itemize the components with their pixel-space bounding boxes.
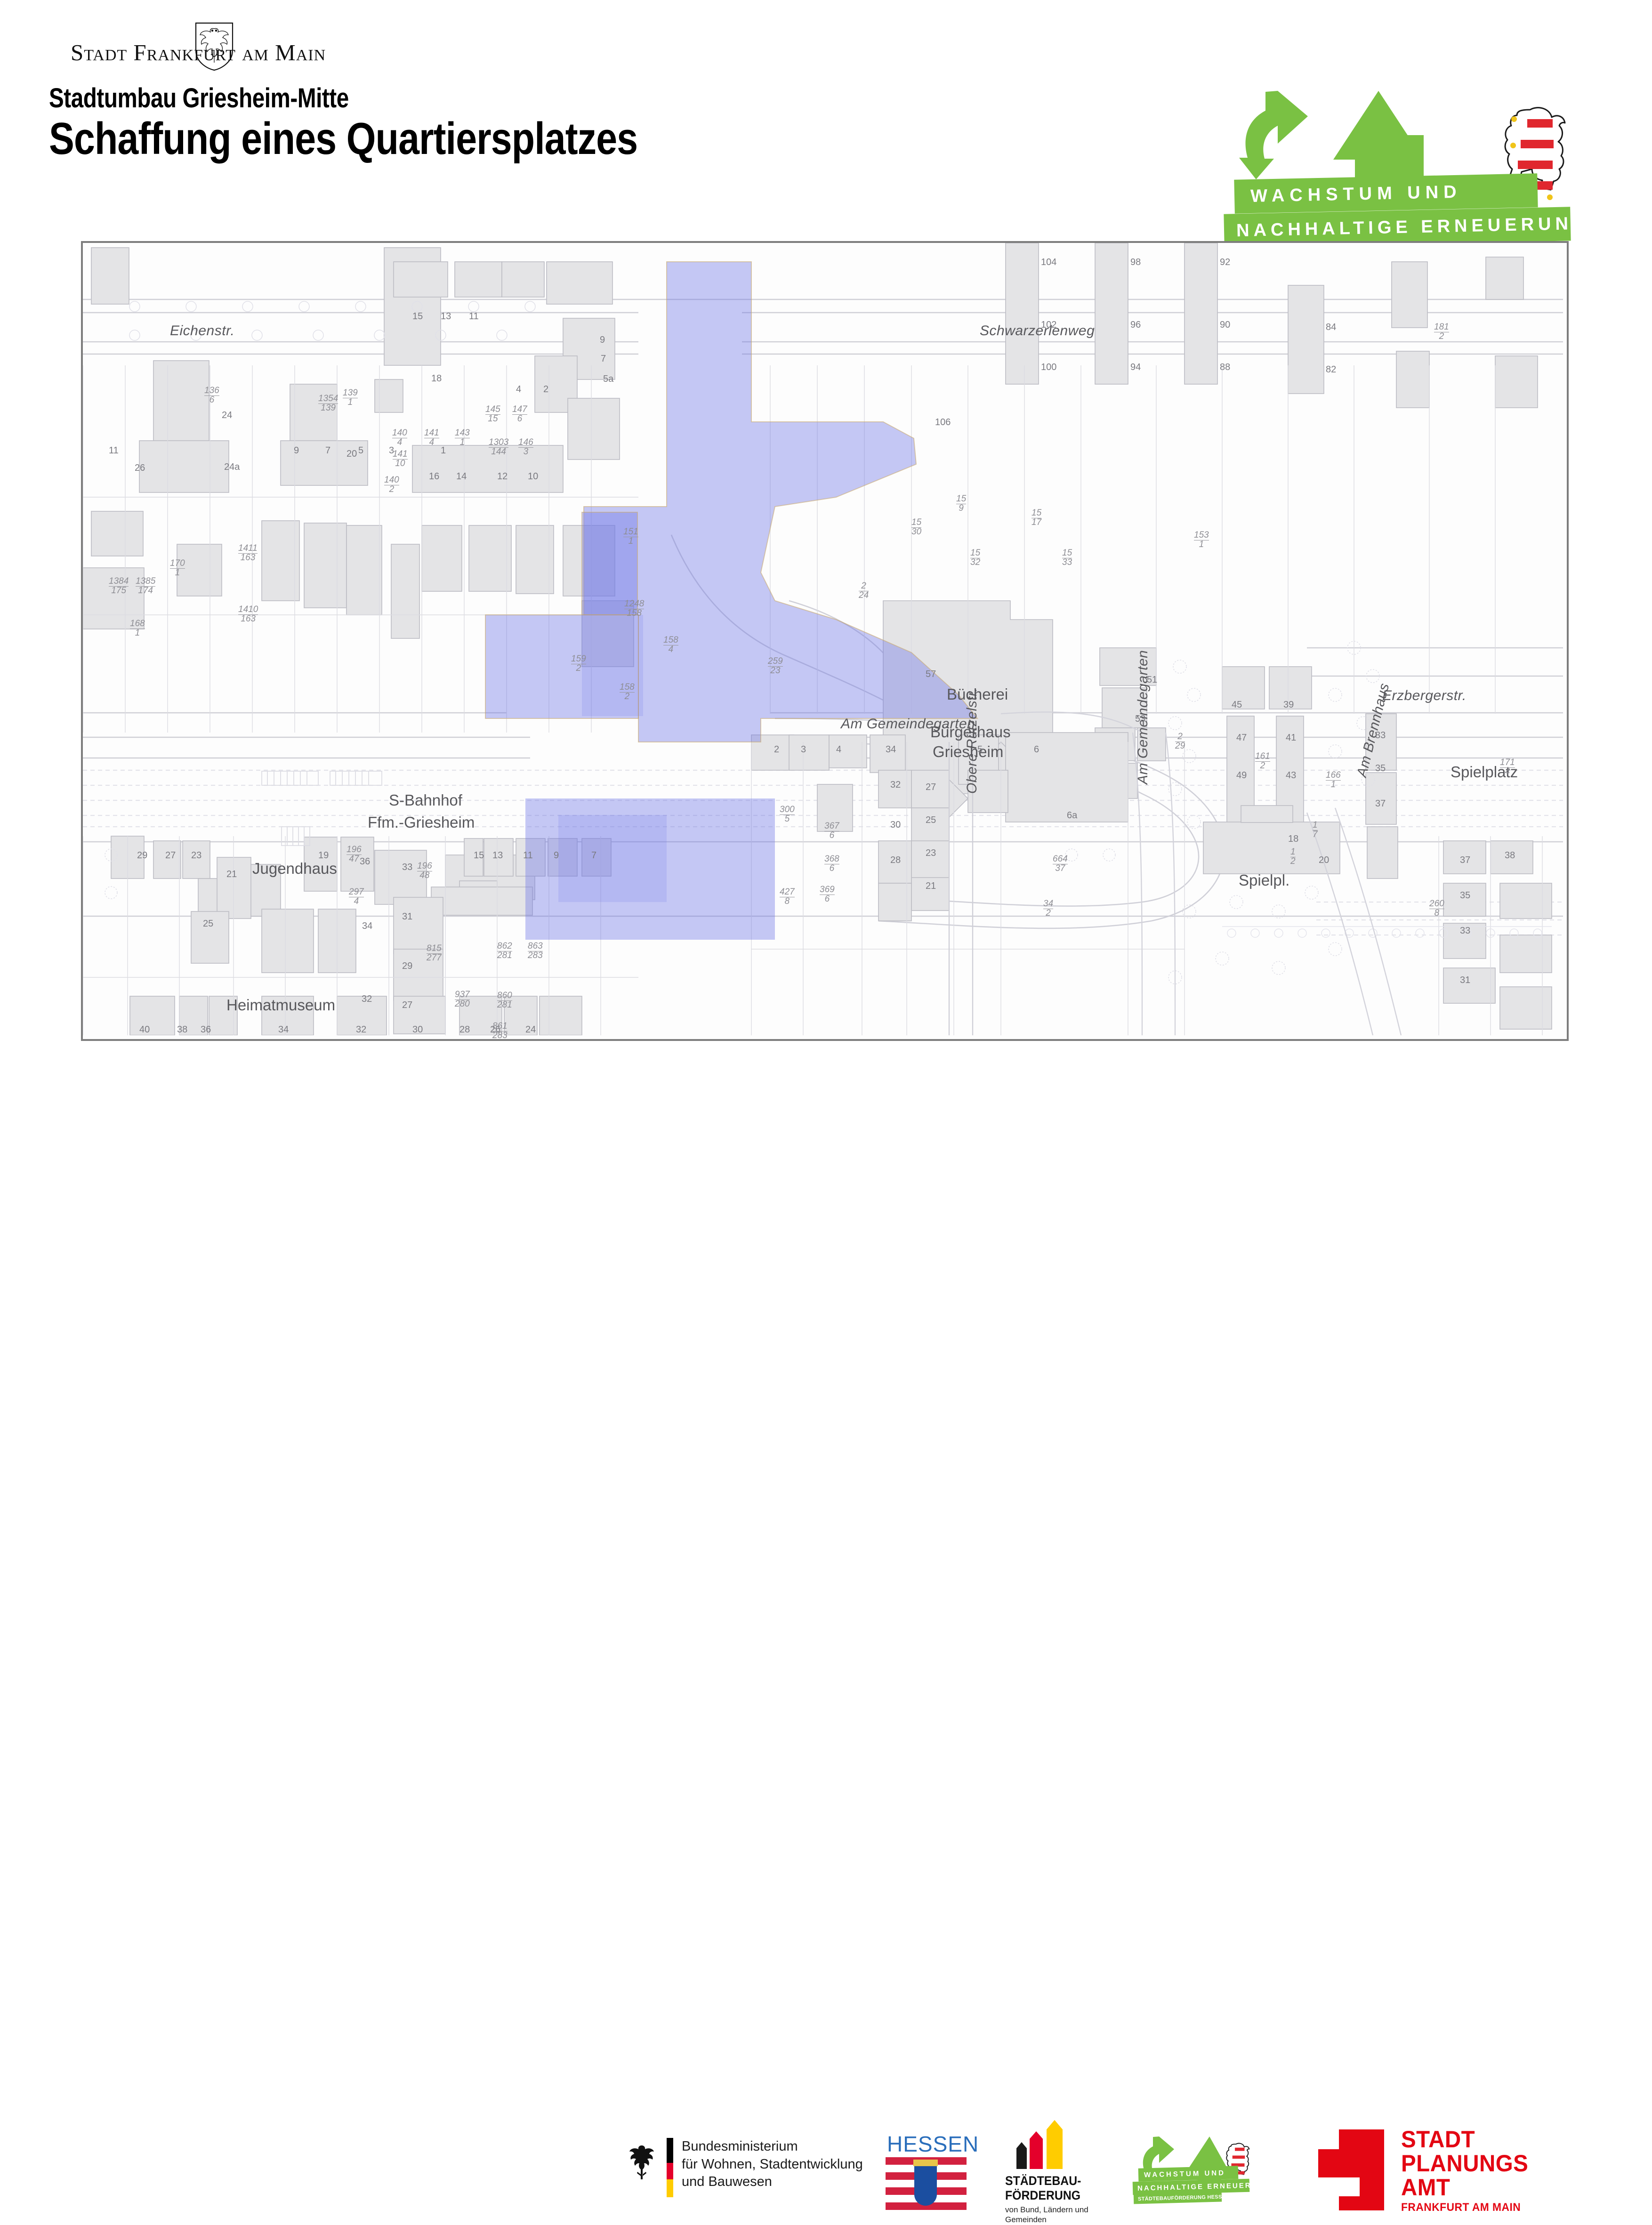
stadtplanungsamt-logo: STADT PLANUNGS AMT FRANKFURT AM MAIN (1318, 2129, 1563, 2214)
parcel-fraction: 1404 (392, 429, 407, 447)
house-number: 34 (886, 744, 896, 755)
house-number: 11 (523, 850, 533, 861)
house-number: 33 (1375, 730, 1386, 741)
parcel-fraction: 1463 (518, 438, 533, 456)
house-number: 98 (1130, 257, 1141, 268)
street-label: Erzbergerstr. (1382, 688, 1467, 704)
parcel-fraction: 1354139 (318, 395, 338, 412)
house-number: 57 (926, 669, 936, 680)
house-number: 4 (516, 384, 521, 395)
parcel-fraction: 1584 (663, 636, 678, 654)
street-label: Eichenstr. (170, 323, 234, 339)
parcel-fraction: 14515 (485, 405, 500, 423)
page-title: Schaffung eines Quartiersplatzes (49, 113, 637, 165)
hessen-crown-icon (913, 2160, 938, 2166)
house-number: 7 (325, 445, 330, 456)
page-header: Stadt Frankfurt am Main Stadtumbau Gries… (0, 0, 1652, 221)
parcel-fraction: 1384175 (109, 577, 129, 595)
parcel-fraction: 14110 (393, 450, 408, 468)
house-number: 2 (774, 744, 779, 755)
poi-label: Bücherei (947, 685, 1008, 703)
house-number: 6a (1067, 810, 1077, 821)
parcel-fraction: 1701 (170, 559, 185, 577)
parcel-fraction: 1431 (455, 429, 470, 447)
staedtebau-sub: von Bund, Ländern und Gemeinden (1005, 2205, 1088, 2225)
parcel-fraction: 1532 (970, 549, 980, 567)
house-number: 14 (456, 471, 467, 482)
house-number: 41 (1286, 733, 1296, 743)
spa-words: STADT PLANUNGS AMT (1401, 2128, 1528, 2200)
parcel-fraction: 1391 (343, 389, 358, 407)
house-number: 20 (1319, 855, 1329, 866)
parcel-fraction: 1517 (1031, 509, 1041, 527)
parcel-fraction: 159 (956, 495, 966, 513)
house-number: 100 (1041, 362, 1056, 373)
parcel-fraction: 224 (859, 582, 869, 600)
house-number: 40 (139, 1024, 150, 1035)
bmwsb-text: Bundesministerium für Wohnen, Stadtentwi… (682, 2138, 863, 2191)
parcel-fraction: 1661 (1326, 771, 1341, 789)
house-number: 45 (1232, 700, 1242, 710)
staedtebau-sub1: von Bund, Ländern und (1005, 2205, 1088, 2215)
house-number: 16 (429, 471, 439, 482)
parcel-fraction: 1714 (1500, 758, 1515, 776)
bundesministerium-logo: Bundesministerium für Wohnen, Stadtentwi… (626, 2135, 871, 2206)
house-number: 26 (135, 463, 145, 474)
house-number: 35 (1460, 890, 1470, 901)
poi-label: Bürgerhaus (930, 723, 1011, 741)
house-number: 90 (1220, 320, 1230, 331)
house-number: 31 (402, 911, 412, 922)
house-number: 27 (402, 1000, 412, 1011)
house-number: 15 (474, 850, 484, 861)
spa-word1: STADT (1401, 2128, 1528, 2152)
house-number: 34 (362, 921, 372, 932)
parcel-fraction: 1414 (424, 429, 439, 447)
house-number: 29 (137, 850, 147, 861)
house-number: 1 (441, 445, 446, 456)
cadastral-map[interactable]: Eichenstr.SchwarzerlenwegAm Gemeindegart… (81, 241, 1569, 1041)
house-number: 27 (926, 782, 936, 793)
house-yellow-icon (1047, 2129, 1063, 2169)
house-number: 23 (926, 848, 936, 859)
parcel-fraction: 3696 (820, 886, 835, 903)
staedtebau-line2: FÖRDERUNG (1005, 2188, 1081, 2203)
house-number: 37 (1375, 798, 1386, 809)
parcel-fraction: 4278 (780, 888, 795, 906)
house-number: 96 (1130, 320, 1141, 331)
frankfurt-f-mark-icon (1318, 2129, 1384, 2210)
house-number: 51 (1147, 675, 1157, 685)
house-number: 28 (459, 1024, 470, 1035)
house-number: 82 (1326, 364, 1336, 375)
parcel-fraction: 862281 (497, 942, 512, 960)
house-number: 24a (224, 462, 240, 473)
parcel-fraction: 1410163 (238, 605, 258, 623)
house-number: 88 (1220, 362, 1230, 373)
house-black-icon (1016, 2148, 1027, 2169)
bundesadler-icon (626, 2144, 657, 2181)
hessen-lion-shield-icon (914, 2162, 937, 2206)
parcel-fraction: 1612 (1255, 752, 1270, 770)
house-number: 32 (362, 994, 372, 1005)
house-number: 15 (412, 311, 423, 322)
parcel-fraction: 3005 (780, 806, 795, 823)
house-number: 7 (591, 850, 596, 861)
parcel-fraction: 863283 (528, 942, 543, 960)
house-number: 43 (1286, 770, 1296, 781)
house-number: 32 (890, 780, 901, 790)
parcel-fraction: 1411163 (238, 544, 258, 562)
parcel-fraction: 19647 (347, 846, 362, 863)
poi-label: Heimatmuseum (226, 996, 335, 1014)
house-number: 32 (356, 1024, 366, 1035)
wachstum-logo-small: WACHSTUM UND NACHHALTIGE ERNEUERUNG STÄD… (1135, 2135, 1281, 2210)
house-number: 31 (1460, 975, 1470, 986)
wachstum-band-line1: WACHSTUM UND (1234, 173, 1538, 213)
spa-sub: FRANKFURT AM MAIN (1401, 2201, 1521, 2214)
house-number: 2 (543, 384, 548, 395)
poi-label: S-Bahnhof (389, 791, 462, 809)
parcel-fraction: 815277 (427, 944, 442, 962)
parcel-fraction: 1402 (384, 476, 399, 494)
house-number: 6 (1034, 744, 1039, 755)
house-number: 49 (1236, 770, 1247, 781)
parcel-fraction: 2974 (349, 888, 364, 906)
staedtebau-title: STÄDTEBAU- FÖRDERUNG (1005, 2174, 1081, 2203)
poi-label: Griesheim (933, 743, 1003, 761)
house-number: 92 (1220, 257, 1230, 268)
parcel-fraction: 342 (1043, 900, 1053, 918)
house-number: 94 (1130, 362, 1141, 373)
house-number: 18 (1288, 834, 1298, 845)
house-number: 9 (554, 850, 559, 861)
house-number: 4 (836, 744, 841, 755)
staedtebaufoerderung-logo: STÄDTEBAU- FÖRDERUNG von Bund, Ländern u… (1005, 2129, 1123, 2214)
parcel-fraction: 66437 (1053, 855, 1068, 873)
house-number: 37 (1460, 855, 1470, 866)
funding-logos-footer: Bundesministerium für Wohnen, Stadtentwi… (0, 1062, 1652, 1168)
house-number: 5 (977, 744, 983, 755)
house-number: 106 (935, 417, 951, 428)
house-number: 19 (318, 850, 329, 861)
parcel-fraction: 1476 (512, 405, 527, 423)
house-number: 12 (497, 471, 508, 482)
planning-area-highlight (83, 243, 1563, 1035)
german-flag-bar-icon (667, 2138, 673, 2197)
house-number: 38 (1505, 850, 1515, 861)
street-label: Schwarzerlenweg (980, 323, 1095, 339)
house-number: 3 (801, 744, 806, 755)
house-number: 33 (1460, 926, 1470, 936)
wachstum-small-line2: NACHHALTIGE ERNEUERUNG (1133, 2179, 1250, 2195)
house-number: 27 (165, 850, 176, 861)
parcel-fraction: 12 (1290, 848, 1296, 866)
house-number: 21 (226, 869, 237, 880)
parcel-fraction: 1248158 (624, 600, 644, 618)
house-number: 34 (278, 1024, 289, 1035)
house-number: 21 (926, 881, 936, 892)
parcel-fraction: 1812 (1434, 323, 1449, 341)
poi-label: Spielpl. (1239, 871, 1289, 889)
house-number: 47 (1236, 733, 1247, 743)
house-number: 5a (603, 374, 613, 385)
parcel-fraction: 861283 (492, 1022, 508, 1040)
parcel-fraction: 1592 (571, 655, 586, 673)
parcel-fraction: 19648 (417, 862, 432, 880)
parcel-fraction: 1582 (620, 683, 635, 701)
parcel-fraction: 2608 (1429, 900, 1444, 918)
city-logo: Stadt Frankfurt am Main (71, 26, 372, 68)
house-number: 10 (528, 471, 538, 482)
parcel-fraction: 1531 (1194, 531, 1209, 549)
parcel-fraction: 25923 (768, 657, 783, 675)
parcel-fraction: 1533 (1062, 549, 1072, 567)
house-red-icon (1030, 2139, 1043, 2169)
parcel-fraction: 1530 (911, 518, 921, 536)
bmwsb-line1: Bundesministerium (682, 2138, 863, 2156)
house-number: 102 (1041, 320, 1056, 331)
parcel-fraction: 17 (1313, 821, 1318, 839)
house-number: 25 (926, 815, 936, 826)
staedtebau-sub2: Gemeinden (1005, 2215, 1088, 2225)
house-number: 24 (222, 410, 232, 421)
parcel-fraction: 1366 (204, 387, 219, 404)
house-number: 5 (358, 445, 363, 456)
page-subtitle: Stadtumbau Griesheim-Mitte (49, 82, 349, 114)
house-number: 30 (412, 1024, 423, 1035)
parcel-fraction: 1511 (623, 528, 638, 546)
house-number: 33 (402, 862, 412, 873)
house-number: 84 (1326, 322, 1336, 333)
parcel-fraction: 229 (1175, 733, 1185, 750)
parcel-fraction: 860281 (497, 992, 512, 1009)
house-number: 28 (890, 855, 901, 866)
bmwsb-line3: und Bauwesen (682, 2173, 863, 2191)
spa-word3: AMT (1401, 2176, 1528, 2200)
house-number: 13 (441, 311, 451, 322)
bmwsb-line2: für Wohnen, Stadtentwicklung (682, 2156, 863, 2174)
hessen-logo: HESSEN (885, 2131, 970, 2209)
parcel-fraction: 937280 (455, 991, 470, 1008)
parcel-fraction: 3676 (824, 822, 839, 840)
house-number: 53 (1135, 714, 1145, 725)
house-number: 25 (203, 919, 213, 929)
house-number: 23 (191, 850, 201, 861)
hessen-wordmark: HESSEN (887, 2131, 979, 2157)
wachstum-small-line3: STÄDTEBAUFÖRDERUNG HESSEN (1134, 2193, 1222, 2204)
spa-word2: PLANUNGS (1401, 2152, 1528, 2176)
house-number: 24 (525, 1024, 536, 1035)
staedtebau-line1: STÄDTEBAU- (1005, 2174, 1081, 2188)
house-number: 9 (294, 445, 299, 456)
house-number: 30 (890, 820, 901, 830)
house-number: 29 (402, 961, 412, 972)
map-canvas: Eichenstr.SchwarzerlenwegAm Gemeindegart… (83, 243, 1563, 1035)
house-number: 38 (177, 1024, 187, 1035)
parcel-fraction: 1385174 (136, 577, 155, 595)
parcel-fraction: 1681 (130, 620, 145, 637)
house-number: 39 (1283, 700, 1294, 710)
city-logo-wordmark: Stadt Frankfurt am Main (71, 39, 372, 68)
parcel-fraction: 1303144 (489, 438, 508, 456)
poi-label: Ffm.-Griesheim (368, 814, 475, 831)
house-number: 11 (469, 311, 479, 322)
house-number: 18 (431, 373, 442, 384)
parcel-fraction: 3686 (824, 855, 839, 873)
house-number: 9 (600, 335, 605, 346)
house-number: 7 (601, 354, 606, 364)
house-number: 11 (109, 445, 119, 456)
house-number: 36 (201, 1024, 211, 1035)
poi-label: Jugendhaus (252, 860, 337, 878)
house-number: 13 (492, 850, 503, 861)
house-number: 35 (1375, 763, 1386, 774)
house-number: 20 (347, 449, 357, 460)
house-number: 104 (1041, 257, 1056, 268)
